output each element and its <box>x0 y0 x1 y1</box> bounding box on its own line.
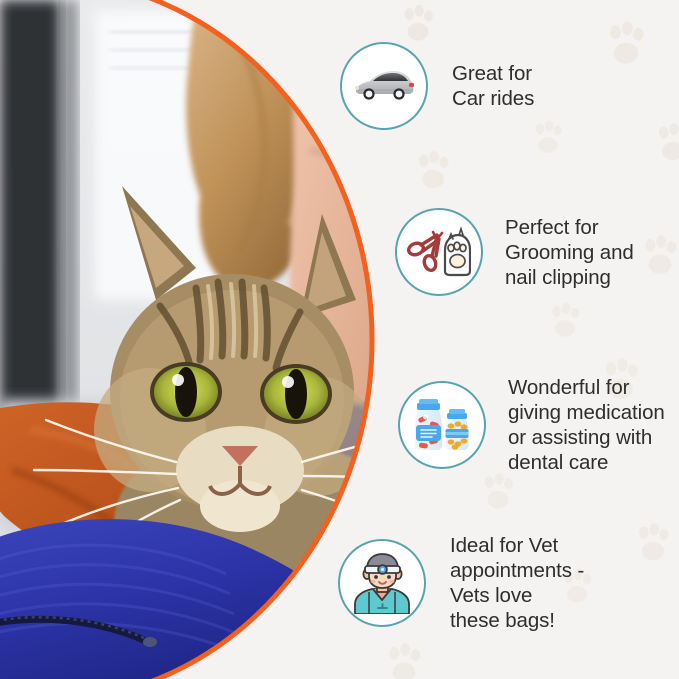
paw-print-icon <box>410 148 456 194</box>
feature-grooming[interactable]: Perfect for Grooming and nail clipping <box>395 208 634 296</box>
feature-vet-appointments[interactable]: Ideal for Vet appointments - Vets love t… <box>338 533 584 633</box>
car-icon <box>340 42 428 130</box>
paw-print-icon <box>476 470 520 514</box>
paw-print-icon <box>650 120 679 166</box>
infographic-page: Great for Car rides <box>0 0 679 679</box>
feature-label: Wonderful for giving medication or assis… <box>508 375 665 475</box>
paw-print-icon <box>396 2 440 46</box>
paw-print-icon <box>380 640 428 679</box>
veterinarian-icon <box>338 539 426 627</box>
nail-clippers-paw-icon <box>395 208 483 296</box>
paw-print-icon <box>636 232 679 280</box>
feature-label: Ideal for Vet appointments - Vets love t… <box>450 533 584 633</box>
feature-medication[interactable]: Wonderful for giving medication or assis… <box>398 375 665 475</box>
paw-print-icon <box>600 18 652 70</box>
paw-print-icon <box>544 300 586 342</box>
feature-car-rides[interactable]: Great for Car rides <box>340 42 534 130</box>
feature-label: Perfect for Grooming and nail clipping <box>505 215 634 290</box>
paw-print-icon <box>630 520 676 566</box>
medicine-bottles-icon <box>398 381 486 469</box>
feature-label: Great for Car rides <box>452 61 534 111</box>
